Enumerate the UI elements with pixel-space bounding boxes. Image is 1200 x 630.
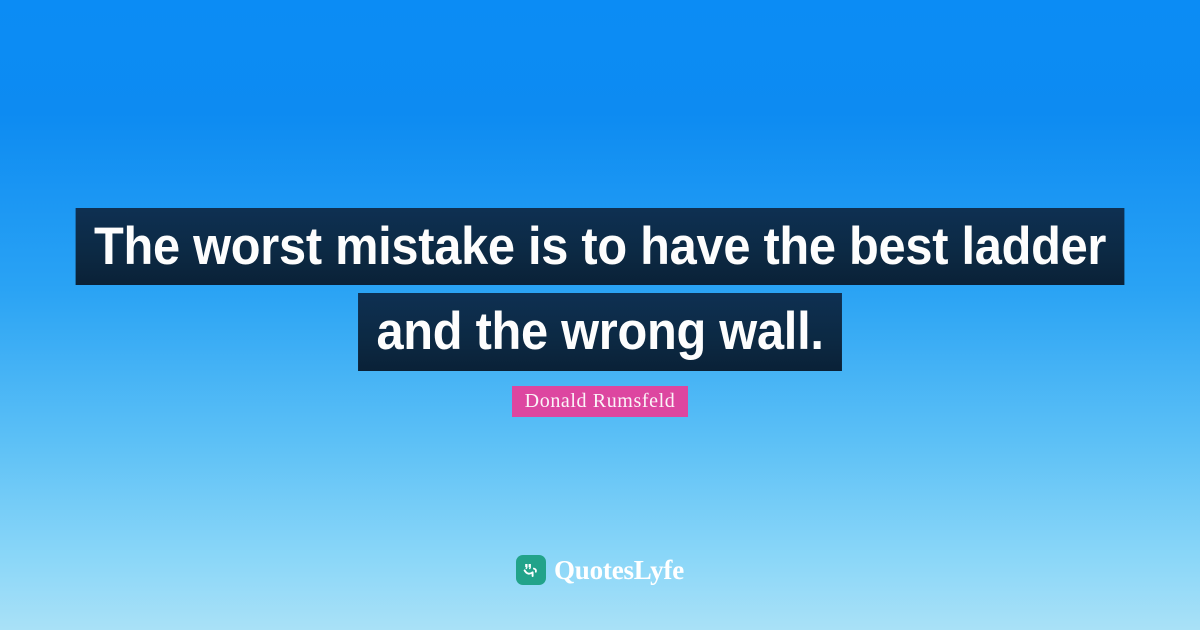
quote-line-1: The worst mistake is to have the best la…	[76, 208, 1125, 285]
quote-block: The worst mistake is to have the best la…	[0, 208, 1200, 371]
quote-poster: The worst mistake is to have the best la…	[0, 0, 1200, 630]
author-attribution: Donald Rumsfeld	[0, 386, 1200, 417]
brand-wordmark: QuotesLyfe	[554, 555, 684, 585]
brand-footer: QuotesLyfe	[0, 555, 1200, 585]
quote-smiley-icon	[516, 555, 546, 585]
quote-line-2: and the wrong wall.	[358, 293, 842, 371]
author-name-badge: Donald Rumsfeld	[512, 386, 689, 417]
